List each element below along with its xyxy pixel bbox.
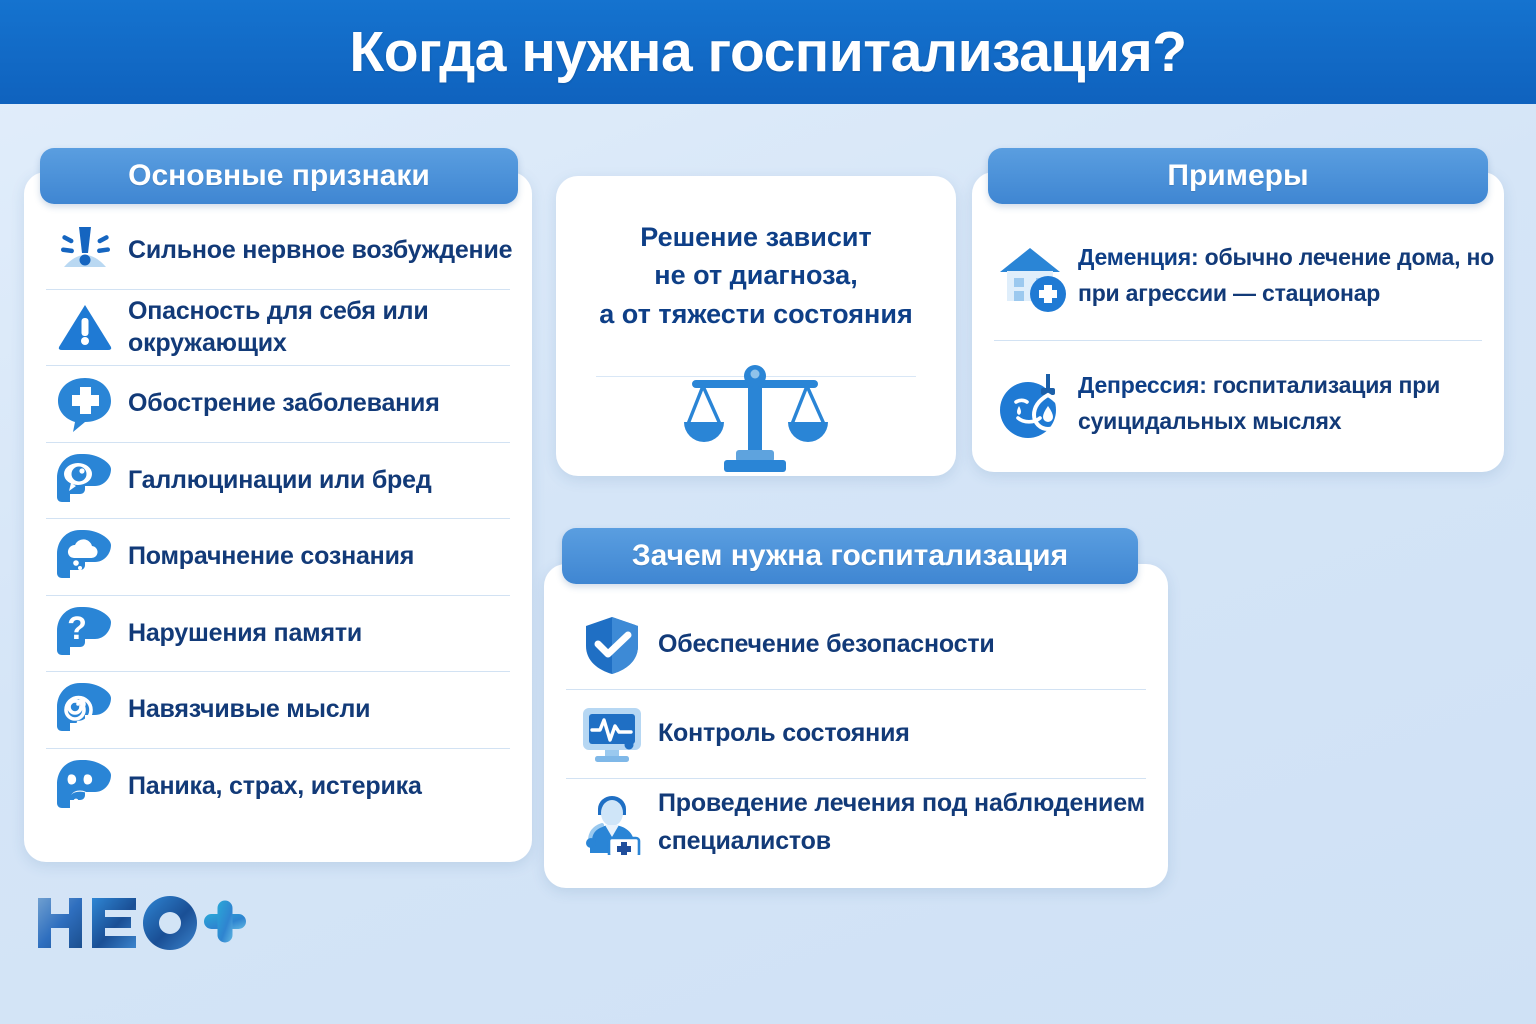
list-item[interactable]: Паника, страх, истерика (24, 748, 532, 825)
list-item[interactable]: Обострение заболевания (24, 365, 532, 442)
examples-list: Деменция: обычно лечение дома, но при аг… (972, 212, 1504, 468)
list-item[interactable]: Депрессия: госпитализация при суицидальн… (972, 340, 1504, 468)
sad-face-teardrop-icon (994, 366, 1070, 442)
shield-check-icon (580, 613, 644, 677)
list-item[interactable]: Сильное нервное возбуждение (24, 212, 532, 289)
medical-cross-bubble-icon (54, 372, 116, 434)
why-section-title-pill: Зачем нужна госпитализация (562, 528, 1138, 584)
list-item-label: Опасность для себя или окружающих (128, 295, 532, 359)
examples-section-title-pill: Примеры (988, 148, 1488, 204)
list-item[interactable]: Контроль состояния (544, 689, 1168, 778)
decision-statement: Решение зависит не от диагноза, а от тяж… (576, 218, 936, 333)
list-item-label: Сильное нервное возбуждение (128, 234, 512, 266)
list-item[interactable]: Помрачнение сознания (24, 518, 532, 595)
list-item[interactable]: ? Нарушения памяти (24, 595, 532, 672)
examples-section-title: Примеры (1167, 159, 1308, 193)
house-plus-icon (994, 238, 1070, 314)
list-item[interactable]: Обеспечение безопасности (544, 600, 1168, 689)
list-item-label: Обострение заболевания (128, 387, 440, 419)
balance-scales-icon (676, 358, 836, 474)
list-item[interactable]: Галлюцинации или бред (24, 442, 532, 519)
head-question-icon: ? (54, 602, 116, 664)
signs-list: Сильное нервное возбуждение Опасность дл… (24, 212, 532, 824)
list-item-label: Галлюцинации или бред (128, 464, 432, 496)
neo-plus-logo (36, 892, 246, 954)
list-item-label: Навязчивые мысли (128, 693, 370, 725)
head-panic-face-icon (54, 755, 116, 817)
signs-section-title: Основные признаки (128, 159, 430, 193)
list-item-label: Паника, страх, истерика (128, 770, 422, 802)
list-item[interactable]: Деменция: обычно лечение дома, но при аг… (972, 212, 1504, 340)
decision-line-2: не от диагноза, (576, 256, 936, 294)
list-item-label: Нарушения памяти (128, 617, 362, 649)
list-item-label: Деменция: обычно лечение дома, но при аг… (1078, 240, 1498, 311)
page-title: Когда нужна госпитализация? (349, 24, 1186, 81)
list-item[interactable]: Опасность для себя или окружающих (24, 289, 532, 366)
signs-section-title-pill: Основные признаки (40, 148, 518, 204)
list-item[interactable]: Проведение лечения под наблюдением специ… (544, 778, 1168, 867)
decision-line-1: Решение зависит (576, 218, 936, 256)
warning-triangle-icon (54, 296, 116, 358)
list-item-label-bold: Депрессия: (1078, 372, 1207, 398)
doctor-bag-icon (580, 791, 644, 855)
head-eye-icon (54, 449, 116, 511)
decision-line-3: а от тяжести состояния (576, 295, 936, 333)
list-item[interactable]: Навязчивые мысли (24, 671, 532, 748)
why-list: Обеспечение безопасности Контроль состоя… (544, 600, 1168, 867)
ecg-monitor-icon (580, 702, 644, 766)
list-item-label: Помрачнение сознания (128, 540, 414, 572)
head-cloud-icon (54, 525, 116, 587)
exclamation-burst-icon (54, 219, 116, 281)
list-item-label: Проведение лечения под наблюдением специ… (658, 785, 1168, 860)
svg-text:?: ? (67, 610, 87, 646)
list-item-label: Депрессия: госпитализация при суицидальн… (1078, 368, 1498, 439)
list-item-label-bold: Деменция: (1078, 244, 1198, 270)
list-item-label: Обеспечение безопасности (658, 626, 995, 664)
why-section-title: Зачем нужна госпитализация (632, 539, 1068, 573)
head-spiral-icon (54, 678, 116, 740)
list-item-label: Контроль состояния (658, 715, 910, 753)
header-banner: Когда нужна госпитализация? (0, 0, 1536, 104)
